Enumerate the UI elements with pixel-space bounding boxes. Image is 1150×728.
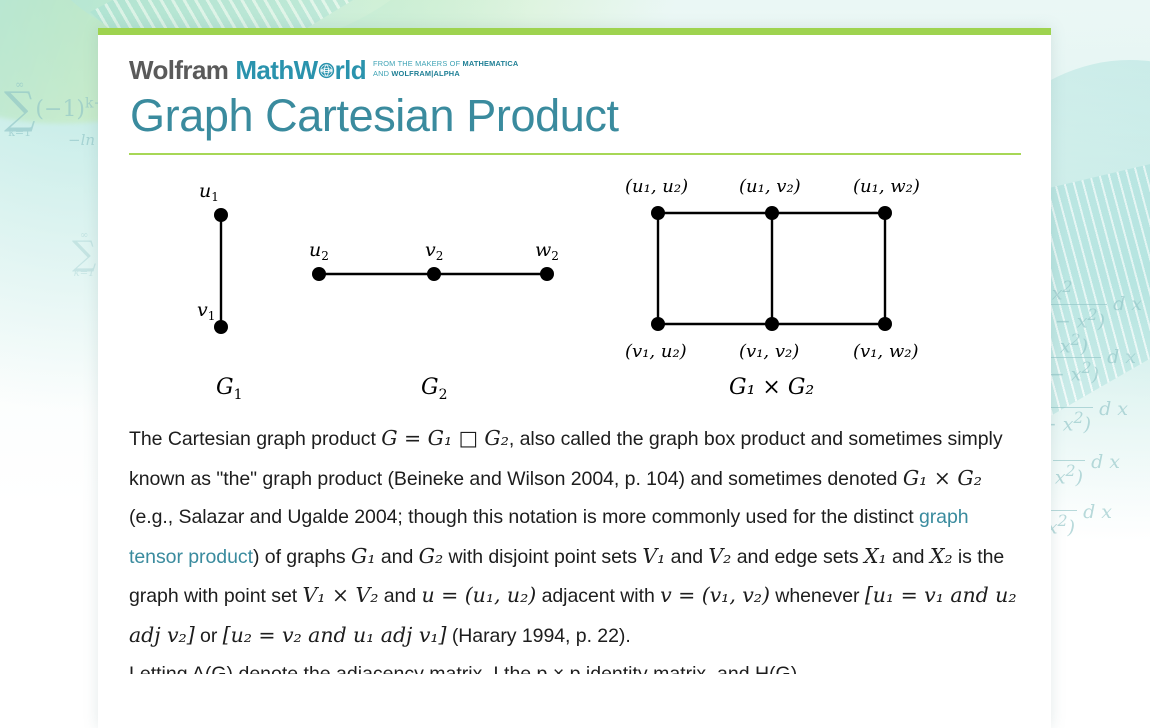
math-u-tuple: u = (u₁, u₂) [422, 583, 537, 607]
body-seg-13: whenever [770, 585, 865, 607]
logo-text-wolfram: Wolfram [129, 57, 228, 83]
logo-tagline: FROM THE MAKERS OF MATHEMATICA AND WOLFR… [373, 59, 518, 83]
math-v1: V₁ [642, 544, 665, 568]
globe-icon [318, 57, 335, 74]
g1-label-v1: v1 [197, 299, 215, 323]
product-node-u1u2 [651, 206, 665, 220]
body-seg-12: adjacent with [536, 585, 660, 607]
g2-label-v2: v2 [425, 239, 443, 263]
figure-caption-g2: G2 [421, 375, 448, 403]
body-seg-15: (Harary 1994, p. 22). [446, 625, 630, 647]
body-seg-5: and [376, 546, 419, 568]
math-x1: X₁ [864, 544, 887, 568]
g1-label-u1: u1 [199, 180, 219, 204]
background-formula-right-4: x2) d x [1053, 438, 1120, 488]
product-node-v1v2 [765, 317, 779, 331]
math-condition-2: [u₂ = v₂ and u₁ adj v₁] [223, 623, 447, 647]
product-label-v1v2: (v₁, v₂) [739, 341, 799, 362]
product-node-u1v2 [765, 206, 779, 220]
product-label-u1w2: (u₁, w₂) [853, 176, 920, 197]
math-v-tuple: v = (v₁, v₂) [660, 583, 770, 607]
body-seg-14: or [195, 625, 223, 647]
card-top-accent-bar [98, 28, 1051, 35]
site-logo[interactable]: Wolfram MathWrld FROM THE MAKERS OF MATH… [129, 57, 1021, 83]
product-label-v1u2: (v₁, u₂) [625, 341, 687, 362]
body-seg-1: The Cartesian graph product [129, 428, 381, 450]
content-card: Wolfram MathWrld FROM THE MAKERS OF MATH… [98, 28, 1051, 728]
figure-caption-product: G₁ × G₂ [729, 375, 814, 400]
g1-node-u1 [214, 208, 228, 222]
background-formula-ln: −ln [68, 131, 95, 149]
product-label-u1v2: (u₁, v₂) [739, 176, 801, 197]
body-seg-8: and edge sets [731, 546, 864, 568]
tagline-line-2: AND WOLFRAM|ALPHA [373, 69, 460, 78]
product-label-u1u2: (u₁, u₂) [625, 176, 688, 197]
title-divider [129, 153, 1021, 155]
definition-paragraph: The Cartesian graph product G = G₁ □ G₂,… [129, 419, 1021, 655]
figure-graph-cartesian-product: u1 v1 u2 v2 w2 (u₁, u₂) (u₁, v₂) [129, 167, 1021, 417]
logo-text-w: W [294, 57, 318, 83]
sum-lower-limit: k=1 [4, 126, 35, 139]
body-seg-11: and [378, 585, 421, 607]
figure-svg: u1 v1 u2 v2 w2 (u₁, u₂) (u₁, v₂) [129, 167, 1019, 417]
math-g2: G₂ [419, 544, 444, 568]
math-g1: G₁ [351, 544, 376, 568]
article-next-paragraph-clipped: Letting A(G) denote the adjacency matrix… [129, 655, 1021, 674]
product-node-u1w2 [878, 206, 892, 220]
g2-node-u2 [312, 267, 326, 281]
background-formula-right-2: x2)− x2) d x [1047, 330, 1136, 386]
article-body: The Cartesian graph product G = G₁ □ G₂,… [129, 419, 1021, 655]
product-label-v1w2: (v₁, w₂) [853, 341, 919, 362]
body-seg-7: and [665, 546, 708, 568]
body-seg-6: with disjoint point sets [443, 546, 642, 568]
logo-text-rld: rld [335, 57, 366, 83]
tagline-line-1: FROM THE MAKERS OF MATHEMATICA [373, 59, 518, 68]
background-formula-right-3: − x2) d x [1039, 385, 1128, 435]
product-node-v1u2 [651, 317, 665, 331]
g1-node-v1 [214, 320, 228, 334]
g2-node-v2 [427, 267, 441, 281]
math-v2: V₂ [708, 544, 731, 568]
figure-caption-g1: G1 [216, 375, 243, 403]
body-seg-3: (e.g., Salazar and Ugalde 2004; though t… [129, 506, 919, 528]
body-seg-9: and [887, 546, 930, 568]
page-title: Graph Cartesian Product [130, 89, 1021, 143]
product-node-v1w2 [878, 317, 892, 331]
g2-node-w2 [540, 267, 554, 281]
math-x2: X₂ [930, 544, 953, 568]
g2-label-u2: u2 [309, 239, 329, 263]
logo-text-mathworld: MathWrld [235, 57, 366, 83]
logo-text-math: Math [235, 57, 293, 83]
g2-label-w2: w2 [535, 239, 559, 263]
background-formula-sum-2: ∞ ∑ k=1 [72, 230, 96, 281]
body-seg-4: ) of graphs [253, 546, 351, 568]
math-g1-times-g2: G₁ × G₂ [903, 466, 982, 490]
math-g-eq-g1-box-g2: G = G₁ □ G₂ [381, 426, 509, 450]
math-v1-times-v2: V₁ × V₂ [302, 583, 378, 607]
background-formula-right-5: x2) d x [1045, 488, 1112, 538]
